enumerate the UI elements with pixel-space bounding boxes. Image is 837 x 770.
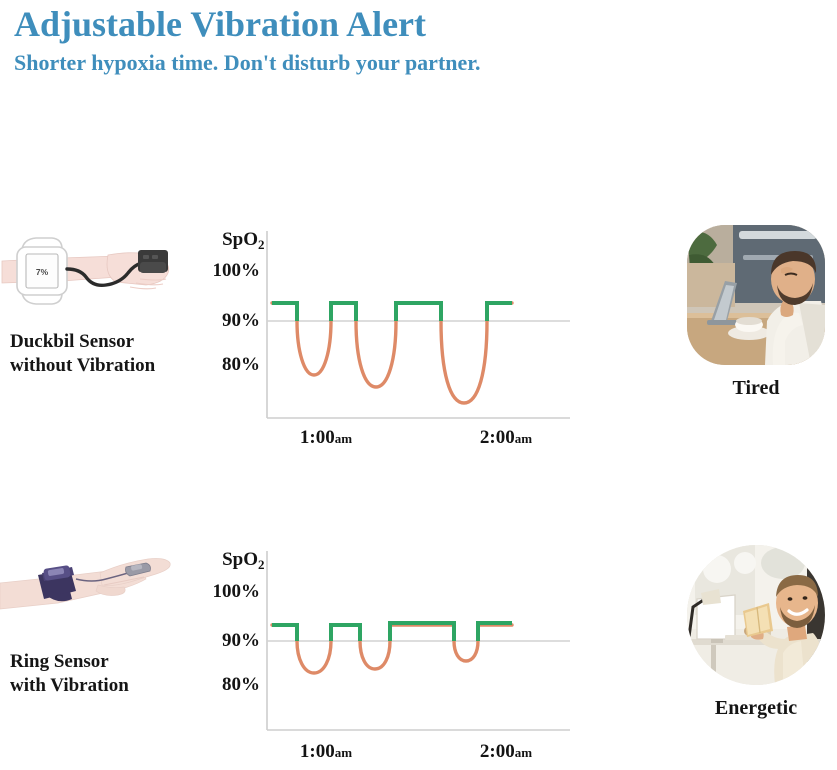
device-caption-line1: Ring Sensor <box>10 650 195 674</box>
x-tick-1am-top: 1:00am <box>300 427 352 448</box>
photo-tired <box>687 225 825 365</box>
y-tick-100-top: 100% <box>213 260 261 281</box>
device-caption-line2: without Vibration <box>10 354 195 378</box>
watch-screen-value: 7% <box>36 267 49 277</box>
page-title: Adjustable Vibration Alert <box>14 2 814 46</box>
device-caption-duckbill: Duckbil Sensor without Vibration <box>10 330 195 378</box>
y-axis-title-subscript-bottom: 2 <box>258 557 265 572</box>
y-axis-title-bottom: SpO <box>222 549 258 570</box>
y-tick-100-bottom: 100% <box>213 581 261 602</box>
normal-segment-top-1 <box>272 303 297 321</box>
wrist-band-ring-sensor-illustration <box>0 545 185 650</box>
y-tick-90-top: 90% <box>222 310 260 331</box>
device-caption-line1: Duckbil Sensor <box>10 330 195 354</box>
x-tick-2am-top: 2:00am <box>480 427 532 448</box>
ring-sensor-art-svg <box>0 545 185 650</box>
device-caption-line2: with Vibration <box>10 674 195 698</box>
duckbill-sensor-art-svg: 7% <box>0 225 185 330</box>
x-tick-2am-bottom: 2:00am <box>480 741 532 762</box>
photo-caption-tired: Tired <box>675 377 837 400</box>
spo2-chart-svg-top: SpO 2 100% 90% 80% 1:00am 2:00am <box>196 225 596 460</box>
spo2-chart-svg-bottom: SpO 2 100% 90% 80% 1:00am 2:00am <box>196 545 596 770</box>
spo2-chart-without-vibration: SpO 2 100% 90% 80% 1:00am 2:00am <box>196 225 616 460</box>
normal-segment-top-4 <box>487 303 512 321</box>
desaturation-trace-top <box>272 303 512 403</box>
photo-caption-energetic: Energetic <box>675 697 837 720</box>
comparison-row-without-vibration: 7% Duckbil Sensor without Vibration SpO … <box>0 225 837 470</box>
device-caption-ring: Ring Sensor with Vibration <box>10 650 195 698</box>
y-tick-80-top: 80% <box>222 354 260 375</box>
wrist-oximeter-duckbill-illustration: 7% <box>0 225 185 330</box>
normal-segment-bottom-2 <box>331 625 360 641</box>
y-axis-title-subscript-top: 2 <box>258 237 265 252</box>
page-header: Adjustable Vibration Alert Shorter hypox… <box>14 2 814 78</box>
photo-energetic <box>687 545 825 685</box>
normal-segment-top-2 <box>331 303 356 321</box>
energetic-man-scene-svg <box>687 545 825 685</box>
outcome-block-tired: Tired <box>675 225 837 400</box>
y-axis-title-top: SpO <box>222 229 258 250</box>
comparison-row-with-vibration: Ring Sensor with Vibration SpO 2 100% 90… <box>0 545 837 768</box>
device-block-ring: Ring Sensor with Vibration <box>0 545 195 698</box>
normal-segment-top-3 <box>396 303 441 321</box>
y-tick-80-bottom: 80% <box>222 674 260 695</box>
device-block-duckbill: 7% Duckbil Sensor without Vibration <box>0 225 195 378</box>
y-tick-90-bottom: 90% <box>222 630 260 651</box>
page-subtitle: Shorter hypoxia time. Don't disturb your… <box>14 48 814 78</box>
outcome-block-energetic: Energetic <box>675 545 837 720</box>
spo2-chart-with-vibration: SpO 2 100% 90% 80% 1:00am 2:00am <box>196 545 616 770</box>
normal-segment-bottom-1 <box>272 625 297 641</box>
tired-man-scene-svg <box>687 225 825 365</box>
x-tick-1am-bottom: 1:00am <box>300 741 352 762</box>
